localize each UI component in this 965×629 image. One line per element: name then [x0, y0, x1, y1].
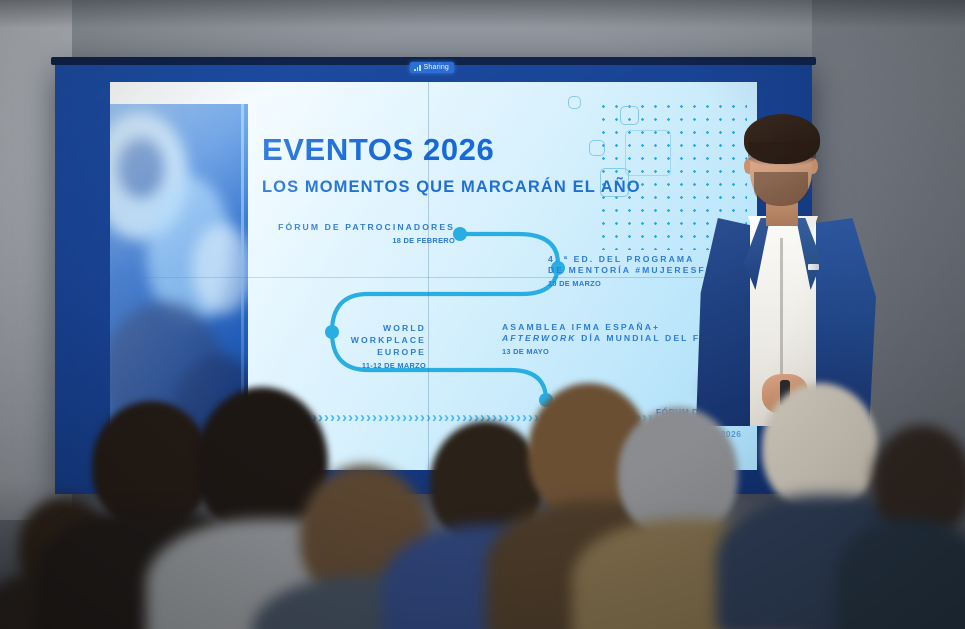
event-name-line3: EUROPE — [306, 346, 426, 358]
audience-body — [836, 519, 965, 629]
lapel-pin — [808, 264, 819, 270]
audience — [0, 369, 965, 629]
presenter-hair — [744, 114, 820, 164]
event-name-line1: WORLD — [306, 322, 426, 334]
event-name-italic: AFTERWORK — [502, 333, 577, 343]
timeline-event-3: WORLD WORKPLACE EUROPE 11-12 DE MARZO — [306, 322, 426, 370]
audience-head — [762, 383, 878, 511]
videowall-seam-horizontal — [110, 277, 757, 278]
sharing-badge[interactable]: Sharing — [410, 62, 454, 73]
event-name-line2: WORKPLACE — [306, 334, 426, 346]
signal-bars-icon — [414, 65, 421, 71]
timeline-dot — [453, 227, 467, 241]
screenshot-stage: Sharing EVENTOS 2026 LOS MOMENTOS QUE MA… — [0, 0, 965, 629]
ceiling-shadow — [0, 0, 965, 28]
sharing-badge-label: Sharing — [424, 64, 450, 71]
